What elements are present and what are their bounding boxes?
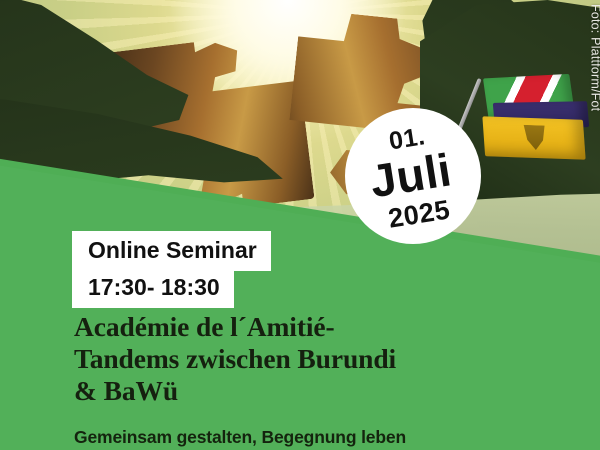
event-time-label: 17:30- 18:30 bbox=[72, 268, 234, 308]
page-title: Académie de l´Amitié- Tandems zwischen B… bbox=[74, 311, 544, 407]
title-line-3: & BaWü bbox=[74, 375, 544, 407]
photo-credit: Foto: Plattform/Fot bbox=[588, 4, 600, 111]
flags-group bbox=[478, 72, 588, 172]
title-line-1: Académie de l´Amitié- bbox=[74, 311, 544, 343]
title-line-2: Tandems zwischen Burundi bbox=[74, 343, 544, 375]
flag-baden-wuerttemberg-icon bbox=[482, 116, 585, 159]
event-type-label: Online Seminar bbox=[72, 231, 271, 271]
event-poster: 01. Juli 2025 Online Seminar 17:30- 18:3… bbox=[0, 0, 600, 450]
date-badge: 01. Juli 2025 bbox=[345, 108, 481, 244]
subtitle: Gemeinsam gestalten, Begegnung leben bbox=[74, 427, 554, 448]
